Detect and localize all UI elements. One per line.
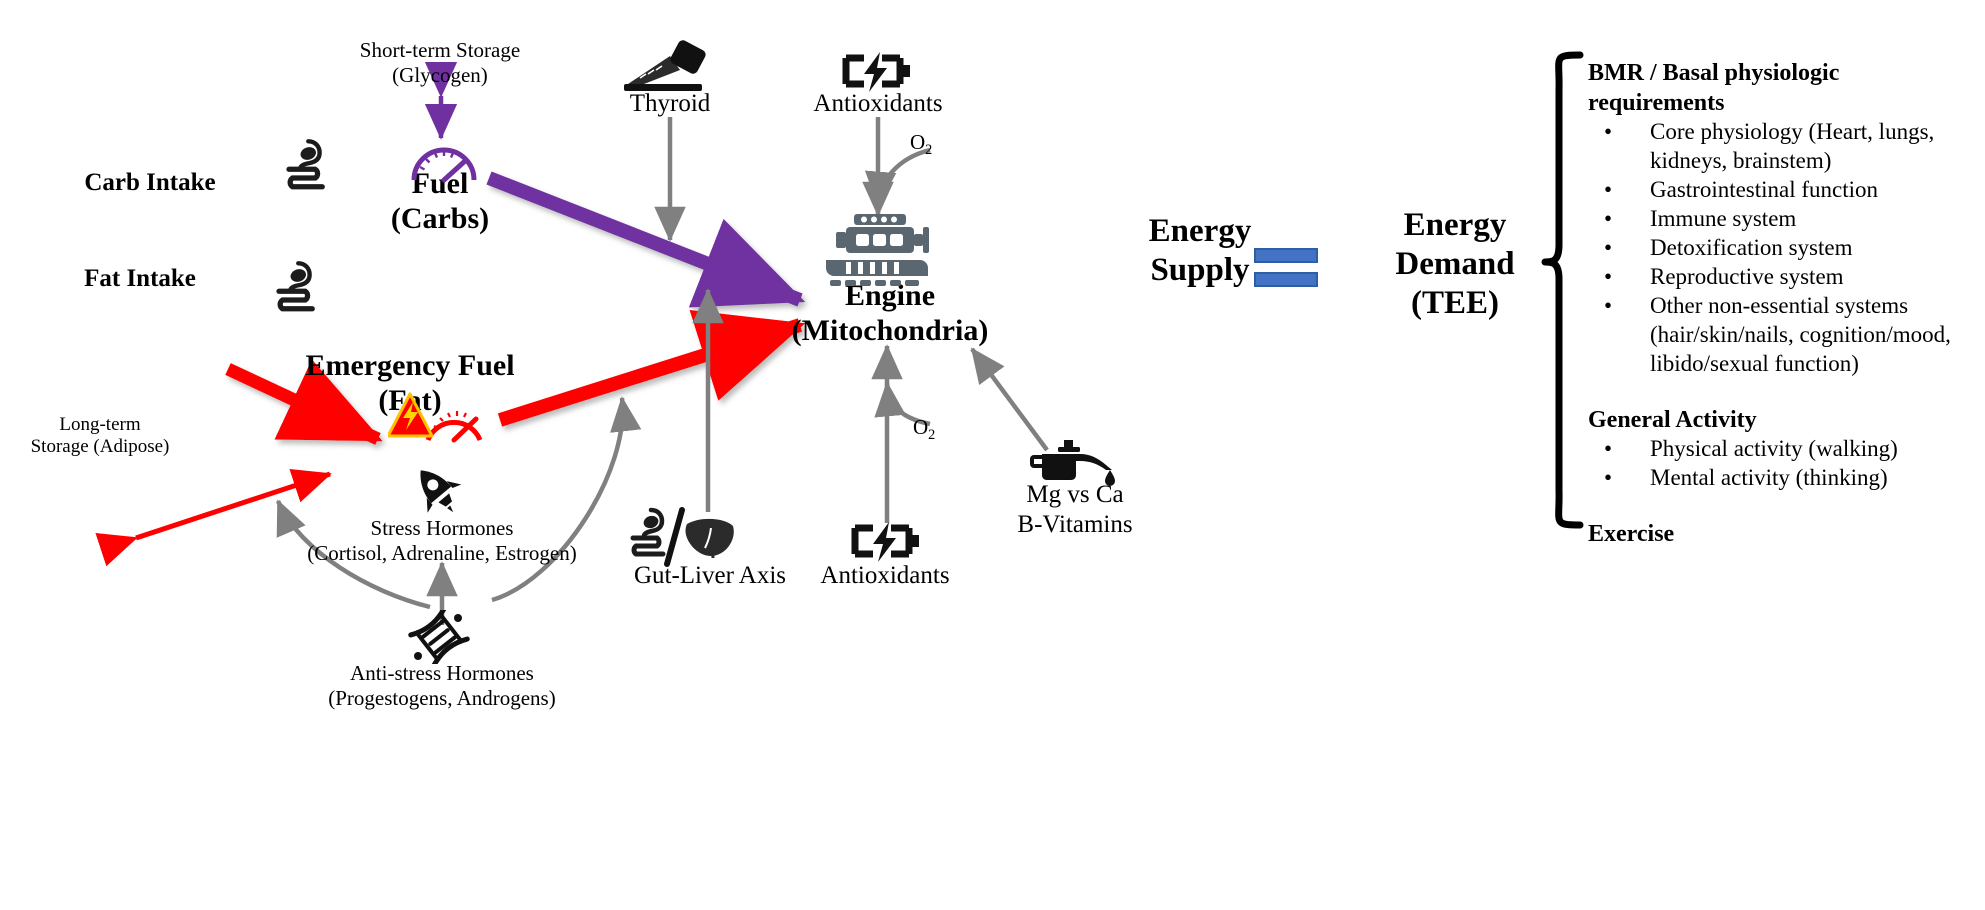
panel-heading-exercise: Exercise [1588, 519, 1976, 549]
stomach-intestine-icon-carb [282, 136, 338, 192]
panel-heading-general-activity: General Activity [1588, 405, 1976, 435]
fuel-carbs-line2: (Carbs) [330, 201, 550, 236]
carb-intake-label: Carb Intake [40, 168, 260, 198]
node-antioxidants-bottom: Antioxidants [765, 561, 1005, 591]
list-item: Other non-essential systems (hair/skin/n… [1588, 292, 1976, 379]
gut-liver-icon [625, 506, 739, 568]
gut-liver-icon [625, 506, 739, 568]
node-o2-top: O2 [910, 130, 1000, 159]
foot-pedal-icon [618, 40, 714, 96]
anti-stress-hormones-line1: Anti-stress Hormones [212, 661, 672, 686]
stomach-intestine-icon [272, 258, 328, 314]
o2-top-label: O [910, 130, 925, 154]
list-item: Physical activity (walking) [1588, 435, 1976, 464]
node-stress-hormones: Stress Hormones (Cortisol, Adrenaline, E… [212, 516, 672, 566]
o2-bottom-label: O [913, 415, 928, 439]
antioxidants-bottom-label: Antioxidants [765, 561, 1005, 591]
stomach-intestine-icon [282, 136, 338, 192]
hazard-gauge-icon [388, 388, 484, 444]
energy-demand-line2: Demand [1330, 245, 1580, 284]
short-term-storage-line1: Short-term Storage [280, 38, 600, 63]
equals-bar-top [1254, 248, 1318, 263]
energy-demand-line3: (TEE) [1330, 284, 1580, 323]
list-item: Core physiology (Heart, lungs, kidneys, … [1588, 118, 1976, 176]
node-carb-intake: Carb Intake [40, 168, 260, 198]
list-item: Mental activity (thinking) [1588, 464, 1976, 493]
node-fat-intake: Fat Intake [40, 264, 240, 294]
mg-ca-line2: B-Vitamins [960, 510, 1190, 540]
node-long-term-storage: Long-term Storage (Adipose) [0, 414, 200, 459]
dna-icon [408, 610, 470, 664]
stomach-intestine-icon-fat [272, 258, 328, 314]
equals-sign [1254, 248, 1318, 287]
node-mg-ca-bvitamins: Mg vs Ca B-Vitamins [960, 480, 1190, 539]
panel-spacer-2 [1588, 493, 1976, 519]
panel-heading-bmr: BMR / Basal physiologic requirements [1588, 58, 1976, 118]
panel-list-bmr: Core physiology (Heart, lungs, kidneys, … [1588, 118, 1976, 379]
diagram-canvas: Short-term Storage (Glycogen) Carb Intak… [0, 0, 1985, 910]
rocket-icon [405, 462, 471, 520]
o2-bottom-subscript: 2 [928, 427, 935, 443]
list-item: Immune system [1588, 205, 1976, 234]
battery-charge-icon [849, 518, 925, 564]
battery-charge-icon [840, 48, 916, 94]
battery-charge-icon-bottom [849, 518, 925, 564]
list-item: Detoxification system [1588, 234, 1976, 263]
engine-icon [820, 210, 944, 290]
panel-spacer-1 [1588, 379, 1976, 405]
node-o2-bottom: O2 [913, 415, 1003, 444]
hazard-gauge-icon-red [388, 388, 484, 444]
list-item: Gastrointestinal function [1588, 176, 1976, 205]
fat-intake-label: Fat Intake [40, 264, 240, 294]
energy-supply-line1: Energy [1090, 212, 1310, 251]
battery-charge-icon-top [840, 48, 916, 94]
equals-bar-bottom [1254, 272, 1318, 287]
anti-stress-hormones-line2: (Progestogens, Androgens) [212, 686, 672, 711]
panel-list-general-activity: Physical activity (walking) Mental activ… [1588, 435, 1976, 493]
energy-demand-line1: Energy [1330, 206, 1580, 245]
engine-icon [820, 210, 944, 290]
node-anti-stress-hormones: Anti-stress Hormones (Progestogens, Andr… [212, 661, 672, 711]
oil-can-icon [1030, 440, 1116, 486]
energy-demand-panel: BMR / Basal physiologic requirements Cor… [1588, 58, 1976, 549]
engine-line2: (Mitochondria) [770, 313, 1010, 348]
long-term-storage-line2: Storage (Adipose) [0, 436, 200, 458]
oil-can-icon [1030, 440, 1116, 486]
rocket-icon [405, 462, 471, 520]
fuel-gauge-icon-purple [408, 140, 480, 184]
node-short-term-storage: Short-term Storage (Glycogen) [280, 38, 600, 88]
list-item: Reproductive system [1588, 263, 1976, 292]
fuel-gauge-icon [408, 140, 480, 184]
foot-pedal-icon [618, 40, 714, 96]
emergency-fuel-line1: Emergency Fuel [250, 348, 570, 383]
long-term-storage-line1: Long-term [0, 414, 200, 436]
dna-icon [408, 610, 470, 664]
o2-top-subscript: 2 [925, 142, 932, 158]
short-term-storage-line2: (Glycogen) [280, 63, 600, 88]
node-energy-demand: Energy Demand (TEE) [1330, 206, 1580, 323]
